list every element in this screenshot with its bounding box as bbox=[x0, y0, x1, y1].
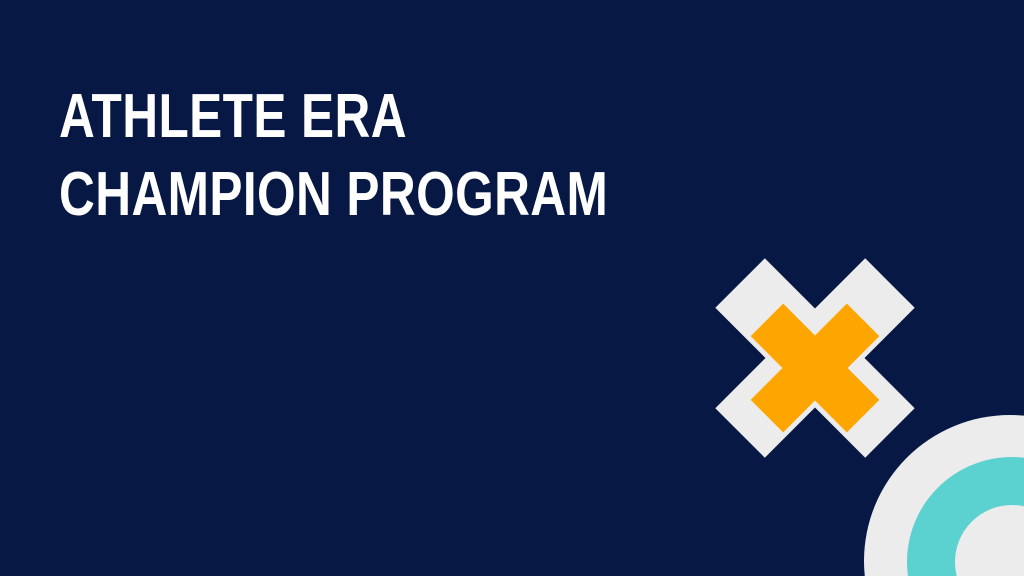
page-title: ATHLETE ERA CHAMPION PROGRAM bbox=[59, 78, 759, 234]
title-line-1: ATHLETE ERA bbox=[59, 78, 619, 156]
title-line-2: CHAMPION PROGRAM bbox=[59, 156, 619, 234]
slide-canvas: ATHLETE ERA CHAMPION PROGRAM bbox=[0, 0, 1024, 576]
